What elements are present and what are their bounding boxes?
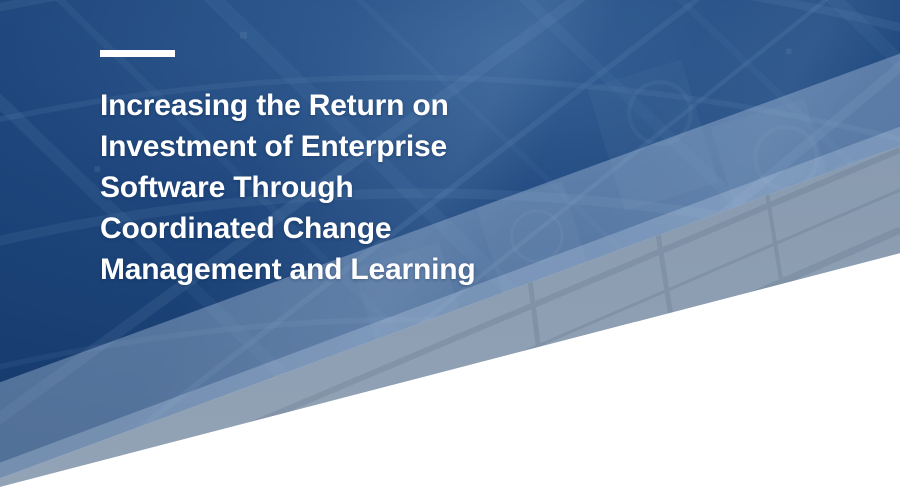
- title-slide: Increasing the Return on Investment of E…: [0, 0, 900, 487]
- title-line: Coordinated Change: [100, 208, 620, 249]
- title-line: Management and Learning: [100, 249, 620, 290]
- title-line: Software Through: [100, 167, 620, 208]
- page-title: Increasing the Return on Investment of E…: [100, 85, 620, 290]
- title-block: Increasing the Return on Investment of E…: [100, 50, 620, 290]
- title-line: Increasing the Return on: [100, 85, 620, 126]
- title-line: Investment of Enterprise: [100, 126, 620, 167]
- accent-bar: [100, 50, 175, 57]
